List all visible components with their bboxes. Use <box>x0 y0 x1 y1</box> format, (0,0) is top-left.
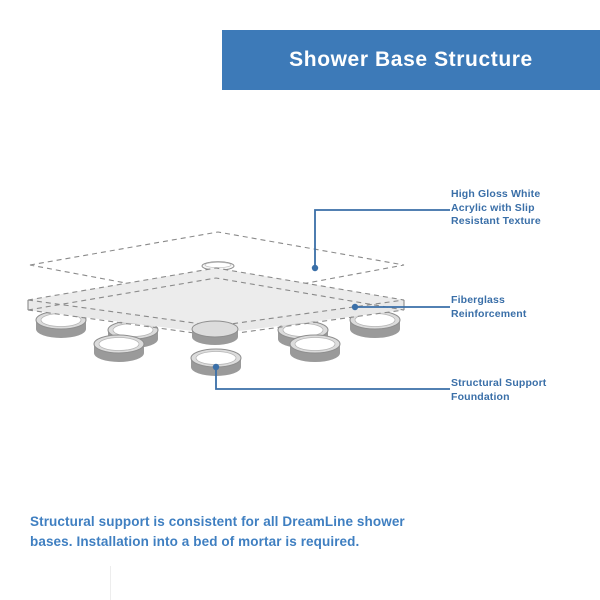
support-ring <box>94 335 144 362</box>
leader-dot-fiberglass <box>352 304 358 310</box>
leader-line-acrylic <box>312 210 450 271</box>
page-title: Shower Base Structure <box>289 48 533 72</box>
callout-label-acrylic: High Gloss White Acrylic with Slip Resis… <box>451 188 541 229</box>
callout-label-fiberglass: Fiberglass Reinforcement <box>451 294 526 321</box>
footer-caption: Structural support is consistent for all… <box>30 512 430 551</box>
header-banner: Shower Base Structure <box>222 30 600 90</box>
support-ring <box>290 335 340 362</box>
shower-base-structure-diagram: Shower Base Structure <box>0 0 600 600</box>
leader-line-foundation <box>213 364 450 389</box>
callout-label-foundation: Structural Support Foundation <box>451 377 546 404</box>
divider-rule <box>110 566 111 600</box>
leader-dot-acrylic <box>312 265 318 271</box>
leader-dot-foundation <box>213 364 219 370</box>
support-ring <box>192 321 238 345</box>
